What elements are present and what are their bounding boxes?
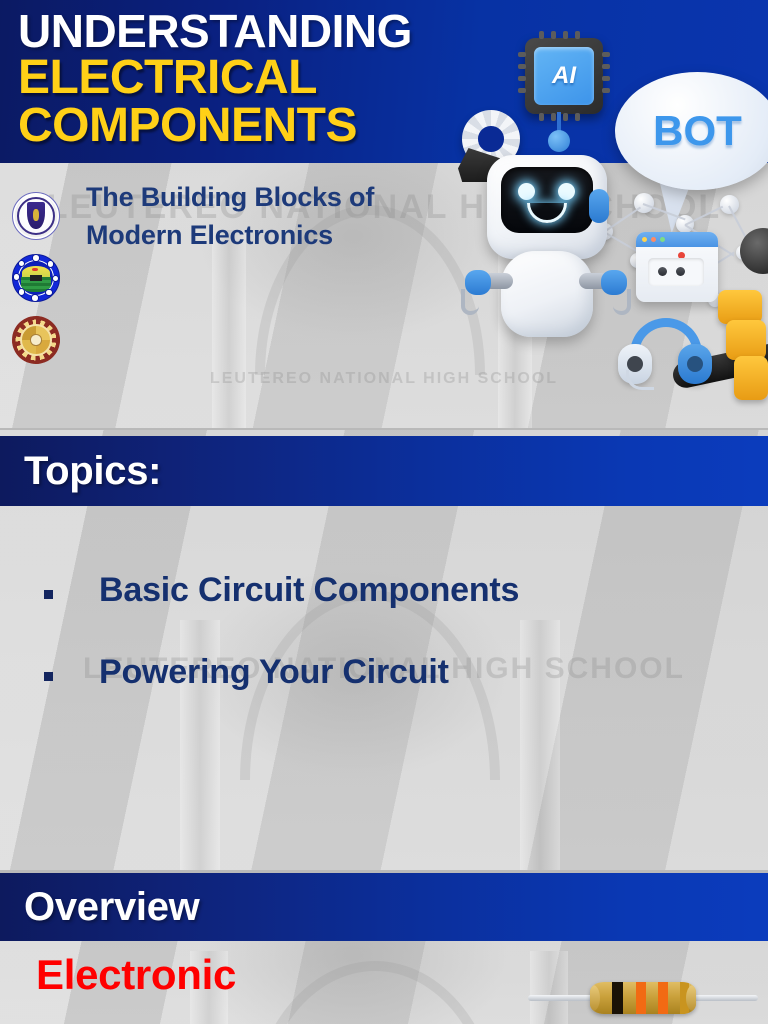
robot-eye-left — [518, 183, 535, 200]
topics-bullet-list: Basic Circuit Components Powering Your C… — [44, 568, 704, 732]
tvl-seal-icon — [12, 316, 60, 364]
robot-eye-right — [558, 183, 575, 200]
robot-head — [487, 155, 607, 259]
robot-body — [501, 251, 593, 337]
robot-arm-right — [579, 273, 621, 291]
resistor-band-2 — [636, 982, 646, 1014]
chip-connector-ball — [548, 130, 570, 152]
bot-speech-bubble-icon: BOT — [615, 72, 768, 190]
overview-banner: Overview — [0, 873, 768, 941]
overview-banner-label: Overview — [0, 885, 200, 930]
title-heading-line1: UNDERSTANDING — [18, 6, 412, 56]
topics-banner-label: Topics: — [0, 449, 161, 494]
list-item[interactable]: Basic Circuit Components — [44, 568, 704, 612]
school-seal-icon — [12, 254, 60, 302]
title-seal-column — [12, 192, 64, 378]
robot-illustration-group: AI BOT — [440, 0, 768, 430]
list-item[interactable]: Powering Your Circuit — [44, 650, 704, 694]
robot-face-screen — [501, 167, 593, 233]
robot-ear — [589, 189, 609, 223]
resistor-band-1 — [612, 982, 623, 1014]
title-subtitle-line2: Modern Electronics — [86, 216, 374, 254]
headphones-icon — [620, 318, 712, 388]
title-slide: LEUTEREO NATIONAL HIGH SCHOOL LEUTEREO N… — [0, 0, 768, 430]
title-heading-line3: COMPONENTS — [18, 100, 357, 152]
bullet-square-icon — [44, 672, 53, 681]
resistor-lead-right — [686, 995, 758, 1001]
deped-seal-icon — [12, 192, 60, 240]
robot-arm-left — [471, 273, 513, 291]
bullet-square-icon — [44, 590, 53, 599]
topic-label: Powering Your Circuit — [99, 650, 449, 694]
ai-chip-icon: AI — [525, 38, 603, 114]
robot-character-icon — [475, 155, 625, 355]
resistor-band-3 — [658, 982, 668, 1014]
topic-label: Basic Circuit Components — [99, 568, 519, 612]
topics-banner: Topics: — [0, 436, 768, 506]
topics-slide: LEUTEREO NATIONAL HIGH SCHOOL Topics: Ba… — [0, 430, 768, 873]
overview-heading: Electronic — [36, 951, 236, 999]
robot-smile — [527, 203, 567, 223]
browser-window-card-icon — [636, 232, 718, 302]
topics-body: Basic Circuit Components Powering Your C… — [0, 506, 768, 873]
ai-chip-label: AI — [534, 47, 594, 105]
resistor-illustration-icon — [528, 978, 758, 1018]
bot-bubble-label: BOT — [615, 72, 768, 190]
yellow-robotic-arm-icon — [708, 290, 768, 410]
title-subtitle: The Building Blocks of Modern Electronic… — [86, 178, 374, 254]
title-heading-line2: ELECTRICAL — [18, 52, 317, 104]
title-subtitle-line1: The Building Blocks of — [86, 178, 374, 216]
resistor-band-4 — [680, 982, 689, 1014]
resistor-body — [590, 982, 696, 1014]
